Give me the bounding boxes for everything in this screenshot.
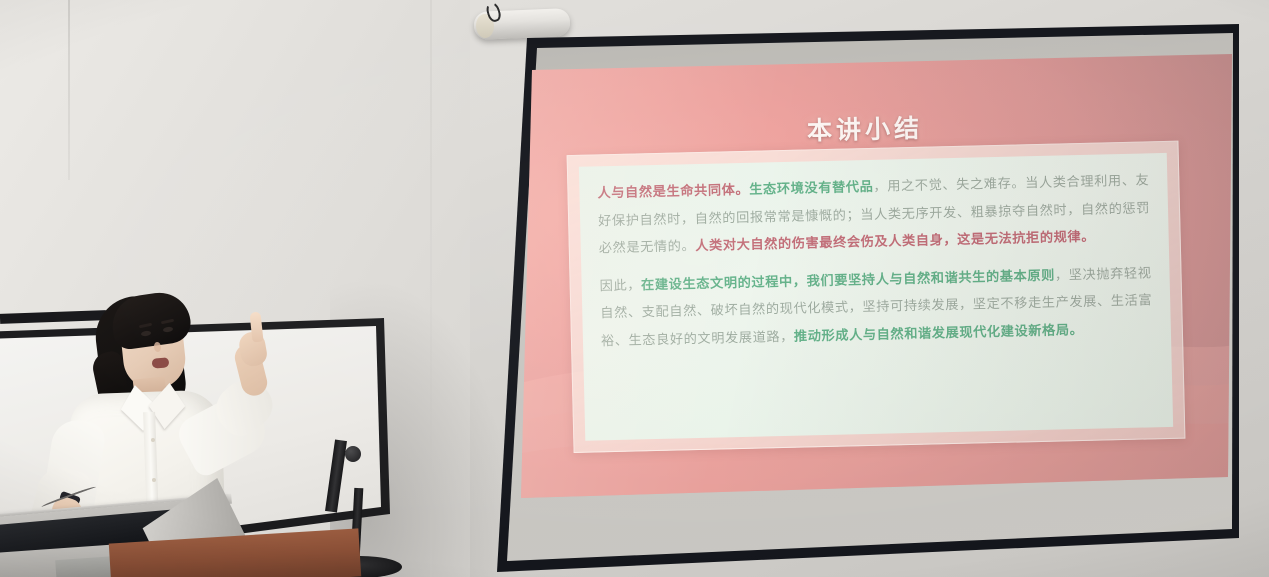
presenter-pointing-finger — [249, 312, 263, 343]
presenter-shirt-button — [152, 478, 156, 482]
presenter-shirt-button — [151, 438, 155, 442]
lecture-photo-scene: 本讲小结 人与自然是生命共同体。生态环境没有替代品，用之不觉、失之难存。当人类合… — [0, 0, 1269, 577]
